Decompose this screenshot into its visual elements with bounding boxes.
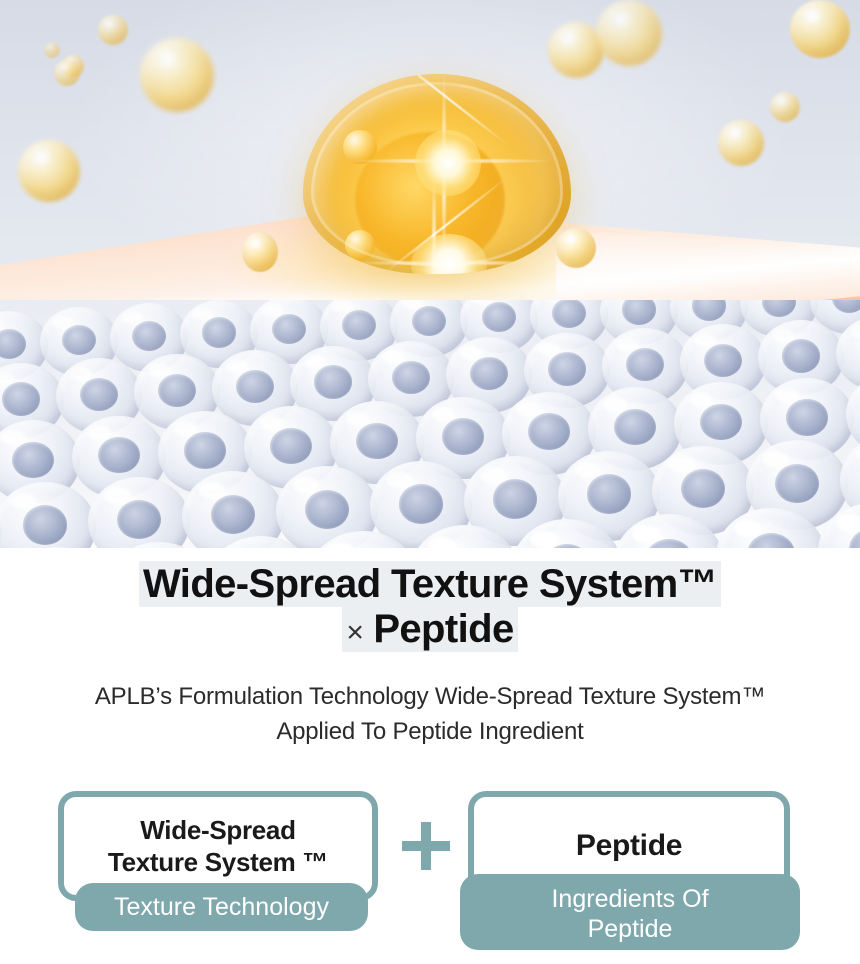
times-symbol-icon: × bbox=[346, 616, 373, 649]
oil-bubble-icon bbox=[790, 0, 850, 58]
oil-bubble-icon bbox=[596, 0, 662, 66]
ingredient-formula-row: Wide-Spread Texture System ™ Texture Tec… bbox=[0, 786, 860, 964]
moisture-cell-lattice bbox=[0, 300, 860, 548]
page-title: Wide-Spread Texture System™ ×Peptide bbox=[0, 562, 860, 652]
oil-droplet-icon bbox=[242, 232, 278, 272]
hero-image bbox=[0, 0, 860, 548]
content-section: Wide-Spread Texture System™ ×Peptide APL… bbox=[0, 548, 860, 964]
page-subtitle: APLB’s Formulation Technology Wide-Sprea… bbox=[0, 680, 860, 750]
oil-bubble-icon bbox=[44, 42, 60, 58]
oil-bubble-icon bbox=[18, 140, 80, 202]
title-text-secondary: ×Peptide bbox=[342, 606, 517, 652]
title-text-primary: Wide-Spread Texture System™ bbox=[139, 561, 721, 607]
texture-system-title-line-2: Texture System ™ bbox=[108, 847, 328, 877]
capsule-rim bbox=[311, 82, 563, 266]
texture-system-card-title: Wide-Spread Texture System ™ bbox=[108, 814, 328, 878]
oil-bubble-icon bbox=[98, 15, 128, 45]
subtitle-line-2: Applied To Peptide Ingredient bbox=[0, 715, 860, 750]
subtitle-line-1: APLB’s Formulation Technology Wide-Sprea… bbox=[0, 680, 860, 715]
peptide-banner-line-1: Ingredients Of bbox=[551, 885, 708, 913]
peptide-banner-line-2: Peptide bbox=[588, 915, 673, 943]
title-line-1: Wide-Spread Texture System™ bbox=[0, 562, 860, 607]
oil-bubble-icon bbox=[718, 120, 764, 166]
oil-bubble-icon bbox=[140, 38, 214, 112]
oil-bubble-icon bbox=[770, 92, 800, 122]
peptide-card-title: Peptide bbox=[576, 827, 682, 864]
texture-system-title-line-1: Wide-Spread bbox=[140, 815, 295, 845]
oil-droplet-icon bbox=[556, 228, 596, 268]
product-feature-page: Wide-Spread Texture System™ ×Peptide APL… bbox=[0, 0, 860, 964]
peptide-card-banner: Ingredients Of Peptide bbox=[460, 874, 800, 950]
texture-system-card-banner: Texture Technology bbox=[75, 883, 368, 931]
title-peptide-label: Peptide bbox=[373, 607, 513, 651]
moisture-cell-icon bbox=[846, 373, 860, 456]
moisture-cell-icon bbox=[0, 482, 96, 548]
oil-bubble-icon bbox=[54, 60, 80, 86]
title-line-2: ×Peptide bbox=[0, 607, 860, 652]
plus-icon bbox=[402, 822, 450, 870]
